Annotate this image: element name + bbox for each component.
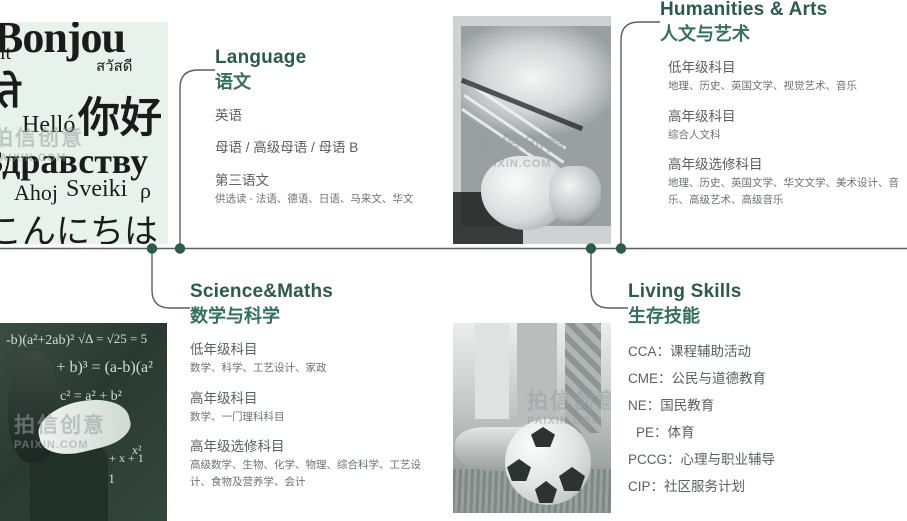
group-detail: 高级数学、生物、化学、物理、综合科学、工艺设计、食物及营养学、会计 [190,457,430,490]
branch-group: 高年级选修科目 高级数学、生物、化学、物理、综合科学、工艺设计、食物及营养学、会… [190,437,430,490]
branch-title-en: Language [215,48,430,69]
group-heading: 高年级选修科目 [668,155,905,175]
group-detail: 数学、一门理科科目 [190,409,430,425]
branch-group: 母语 / 高级母语 / 母语 B [215,138,430,158]
living-skill-item: CIP：社区服务计划 [628,473,888,500]
branch-group: 高年级科目 数学、一门理科科目 [190,389,430,426]
branch-group: 低年级科目 数学、科学、工艺设计、家政 [190,340,430,377]
branch-living-skills: Living Skills 生存技能 CCA：课程辅助活动 CME：公民与道德教… [628,282,888,500]
connector-living [591,249,628,308]
branch-group: 低年级科目 地理、历史、英国文学、视觉艺术、音乐 [668,58,905,95]
living-skill-item: PCCG：心理与职业辅导 [628,446,888,473]
connector-language [180,70,215,248]
connector-humanities [621,22,660,248]
branch-language: Language 语文 英语 母语 / 高级母语 / 母语 B 第三语文 供选读… [215,48,430,207]
branch-group: 高年级选修科目 地理、历史、英国文学、华文文学、美术设计、音乐、高级艺术、高级音… [668,155,905,208]
branch-group: 高年级科目 综合人文科 [668,107,905,144]
group-heading: 低年级科目 [190,340,430,360]
branch-title-cn: 生存技能 [628,304,888,328]
branch-title-en: Humanities & Arts [660,0,905,21]
living-skill-item: NE：国民教育 [628,392,888,419]
node-dot-humanities [616,243,626,253]
branch-humanities: Humanities & Arts 人文与艺术 低年级科目 地理、历史、英国文学… [660,0,905,208]
group-heading: 高年级科目 [668,107,905,127]
group-heading: 高年级选修科目 [190,437,430,457]
living-skill-item: CME：公民与道德教育 [628,365,888,392]
group-detail: 地理、历史、英国文学、视觉艺术、音乐 [668,78,905,94]
living-skill-item: CCA：课程辅助活动 [628,338,888,365]
branch-title-cn: 人文与艺术 [660,22,905,46]
group-heading: 母语 / 高级母语 / 母语 B [215,138,430,158]
group-heading: 第三语文 [215,171,430,191]
connector-science [152,249,190,308]
branch-group: 英语 [215,106,430,126]
living-skill-item: PE：体育 [628,419,888,446]
group-heading: 英语 [215,106,430,126]
node-dot-science [147,243,157,253]
branch-title-en: Living Skills [628,282,888,303]
group-detail: 供选读 - 法语、德语、日语、马来文、华文 [215,191,430,207]
branch-science: Science&Maths 数学与科学 低年级科目 数学、科学、工艺设计、家政 … [190,282,430,490]
branch-title-cn: 数学与科学 [190,304,430,328]
group-detail: 数学、科学、工艺设计、家政 [190,360,430,376]
branch-title-cn: 语文 [215,70,430,94]
branch-group: 第三语文 供选读 - 法语、德语、日语、马来文、华文 [215,171,430,208]
node-dot-language [175,243,185,253]
group-detail: 地理、历史、英国文学、华文文学、美术设计、音乐、高级艺术、高级音乐 [668,175,905,208]
branch-title-en: Science&Maths [190,282,430,303]
group-heading: 低年级科目 [668,58,905,78]
infographic-canvas: Bonjou uit สวัสดี स्ते 你好 on Helló Здрав… [0,0,907,521]
group-heading: 高年级科目 [190,389,430,409]
node-dot-living [586,243,596,253]
group-detail: 综合人文科 [668,127,905,143]
